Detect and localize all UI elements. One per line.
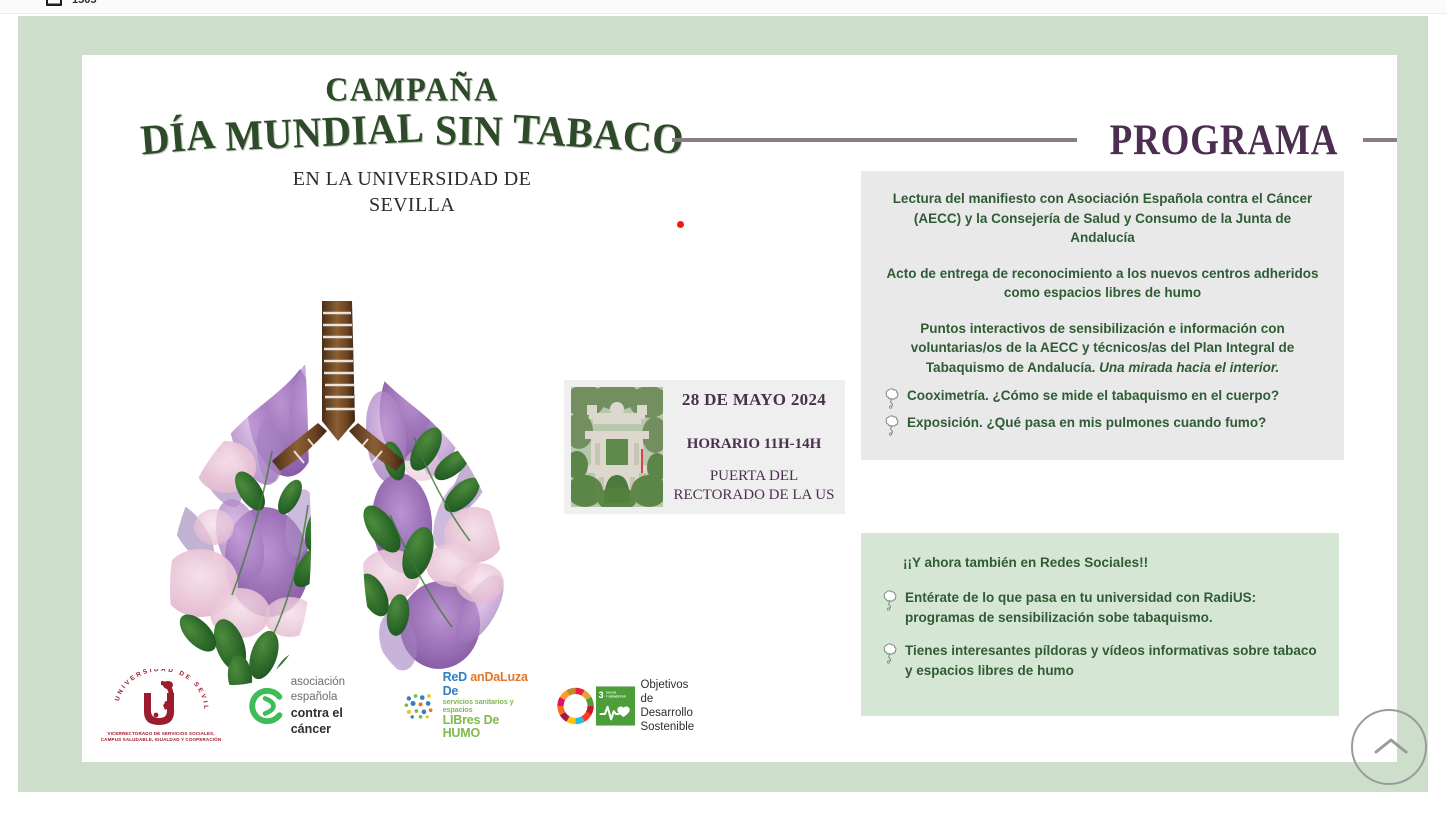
svg-text:UNIVERSIDAD DE SEVILLA: UNIVERSIDAD DE SEVILLA bbox=[100, 669, 209, 712]
event-date: 28 DE MAYO 2024 bbox=[671, 390, 837, 410]
headline-word-tabaco: TABACO bbox=[512, 103, 686, 164]
svg-text:3: 3 bbox=[599, 690, 604, 700]
camera-icon bbox=[46, 0, 62, 6]
program-bullet-exposicion: Exposición. ¿Qué pasa en mis pulmones cu… bbox=[883, 413, 1322, 436]
smoke-puff-icon bbox=[883, 414, 900, 436]
event-place-line2: RECTORADO DE LA US bbox=[671, 486, 837, 505]
ods-logo-text: Objetivos de Desarrollo Sostenible bbox=[640, 678, 700, 734]
program-bullet-cooximetria-text: Cooximetría. ¿Cómo se mide el tabaquismo… bbox=[907, 386, 1322, 406]
social-bullet-radius-text: Entérate de lo que pasa en tu universida… bbox=[905, 588, 1321, 627]
chevron-up-icon bbox=[1373, 735, 1409, 757]
red-andaluza-line1-c: De bbox=[443, 684, 459, 698]
ods-line1: Objetivos de bbox=[640, 678, 700, 706]
sponsor-logo-row: UNIVERSIDAD DE SEVILLA VICERRECTORADO DE… bbox=[100, 667, 700, 745]
aecc-c-mark-icon bbox=[244, 684, 283, 728]
ods-line3: Sostenible bbox=[640, 720, 700, 734]
red-andaluza-line3: LIBres De HUMO bbox=[443, 714, 535, 741]
universidad-de-sevilla-logo: UNIVERSIDAD DE SEVILLA VICERRECTORADO DE… bbox=[100, 669, 222, 743]
smoke-puff-icon bbox=[881, 642, 898, 664]
social-media-box: ¡¡Y ahora también en Redes Sociales!! En… bbox=[861, 533, 1339, 716]
svg-text:Y BIENESTAR: Y BIENESTAR bbox=[606, 694, 627, 698]
red-dot-marker bbox=[677, 221, 684, 228]
red-andaluza-line2: servicios sanitarios y espacios bbox=[443, 698, 535, 714]
aecc-logo: asociación española contra el cáncer bbox=[244, 675, 375, 737]
program-item-puntos-italic: Una mirada hacia el interior. bbox=[1099, 360, 1279, 375]
aecc-line2: española bbox=[291, 690, 375, 705]
top-strip-label: 1505 bbox=[72, 0, 96, 6]
program-bullet-cooximetria: Cooximetría. ¿Cómo se mide el tabaquismo… bbox=[883, 386, 1322, 409]
red-andaluza-text: ReD anDaLuza De servicios sanitarios y e… bbox=[443, 671, 535, 741]
programa-rule-right bbox=[1363, 138, 1397, 142]
rectorado-facade-photo bbox=[571, 387, 663, 507]
programa-rule-left bbox=[672, 138, 1077, 142]
event-place: PUERTA DEL RECTORADO DE LA US bbox=[671, 467, 837, 505]
aecc-line3: contra el cáncer bbox=[291, 705, 375, 738]
headline-word-mundial: MUNDIAL bbox=[224, 102, 425, 161]
us-logo-caption-line2: CAMPUS SALUDABLE, IGUALDAD Y COOPERACIÓN bbox=[100, 737, 222, 743]
aecc-logo-text: asociación española contra el cáncer bbox=[291, 675, 375, 737]
program-item-manifiesto: Lectura del manifiesto con Asociación Es… bbox=[883, 189, 1322, 248]
program-item-reconocimiento: Acto de entrega de reconocimiento a los … bbox=[883, 264, 1322, 303]
event-place-line1: PUERTA DEL bbox=[671, 467, 837, 486]
ods-line2: Desarrollo bbox=[640, 706, 700, 720]
floral-lungs-illustration bbox=[122, 265, 552, 685]
headline-campana: CAMPAÑA bbox=[102, 72, 722, 106]
headline-word-dia: DÍA bbox=[138, 109, 217, 166]
us-logo-caption: VICERRECTORADO DE SERVICIOS SOCIALES, CA… bbox=[100, 731, 222, 743]
sdg-goal-3-badge-icon: 3 SALUD Y BIENESTAR bbox=[596, 685, 635, 727]
program-bullet-exposicion-text: Exposición. ¿Qué pasa en mis pulmones cu… bbox=[907, 413, 1322, 433]
sdg-color-wheel-icon bbox=[556, 685, 595, 727]
red-andaluza-logo: ReD anDaLuza De servicios sanitarios y e… bbox=[403, 671, 534, 741]
headline-subtitle: EN LA UNIVERSIDAD DE SEVILLA bbox=[102, 166, 722, 218]
programa-title: PROGRAMA bbox=[1110, 119, 1339, 162]
social-bullet-pildoras: Tienes interesantes píldoras y vídeos in… bbox=[881, 641, 1321, 680]
ods-logo: 3 SALUD Y BIENESTAR Objetivos de Desarro… bbox=[556, 678, 700, 734]
headline-subtitle-line2: SEVILLA bbox=[102, 192, 722, 218]
smoke-puff-icon bbox=[883, 387, 900, 409]
social-bullet-pildoras-text: Tienes interesantes píldoras y vídeos in… bbox=[905, 641, 1321, 680]
aecc-line1: asociación bbox=[291, 675, 375, 690]
headline-subtitle-line1: EN LA UNIVERSIDAD DE bbox=[102, 166, 722, 192]
scroll-to-top-button[interactable] bbox=[1351, 709, 1427, 785]
program-item-puntos-interactivos: Puntos interactivos de sensibilización e… bbox=[883, 319, 1322, 378]
headline-dia-mundial-sin-tabaco: DÍA MUNDIAL SIN TABACO bbox=[102, 106, 722, 156]
poster-sheet: CAMPAÑA DÍA MUNDIAL SIN TABACO EN LA UNI… bbox=[82, 55, 1397, 762]
programa-header: PROGRAMA bbox=[672, 117, 1397, 163]
social-box-heading: ¡¡Y ahora también en Redes Sociales!! bbox=[903, 555, 1321, 570]
headline-word-sin: SIN bbox=[434, 105, 503, 156]
red-andaluza-line1-a: ReD bbox=[443, 670, 471, 684]
event-time: HORARIO 11H-14H bbox=[671, 436, 837, 453]
red-andaluza-line1: ReD anDaLuza De bbox=[443, 671, 535, 698]
smoke-puff-icon bbox=[881, 589, 898, 611]
program-details-box: Lectura del manifiesto con Asociación Es… bbox=[861, 171, 1344, 460]
social-bullet-radius: Entérate de lo que pasa en tu universida… bbox=[881, 588, 1321, 627]
date-venue-text: 28 DE MAYO 2024 HORARIO 11H-14H PUERTA D… bbox=[663, 390, 845, 505]
app-top-strip: 1505 bbox=[0, 0, 1447, 14]
date-venue-card: 28 DE MAYO 2024 HORARIO 11H-14H PUERTA D… bbox=[564, 380, 845, 514]
red-andaluza-line1-b: anDaLuza bbox=[470, 670, 527, 684]
poster-headline: CAMPAÑA DÍA MUNDIAL SIN TABACO EN LA UNI… bbox=[102, 73, 722, 218]
us-logo-caption-line1: VICERRECTORADO DE SERVICIOS SOCIALES, bbox=[100, 731, 222, 737]
network-dots-icon bbox=[403, 690, 437, 722]
